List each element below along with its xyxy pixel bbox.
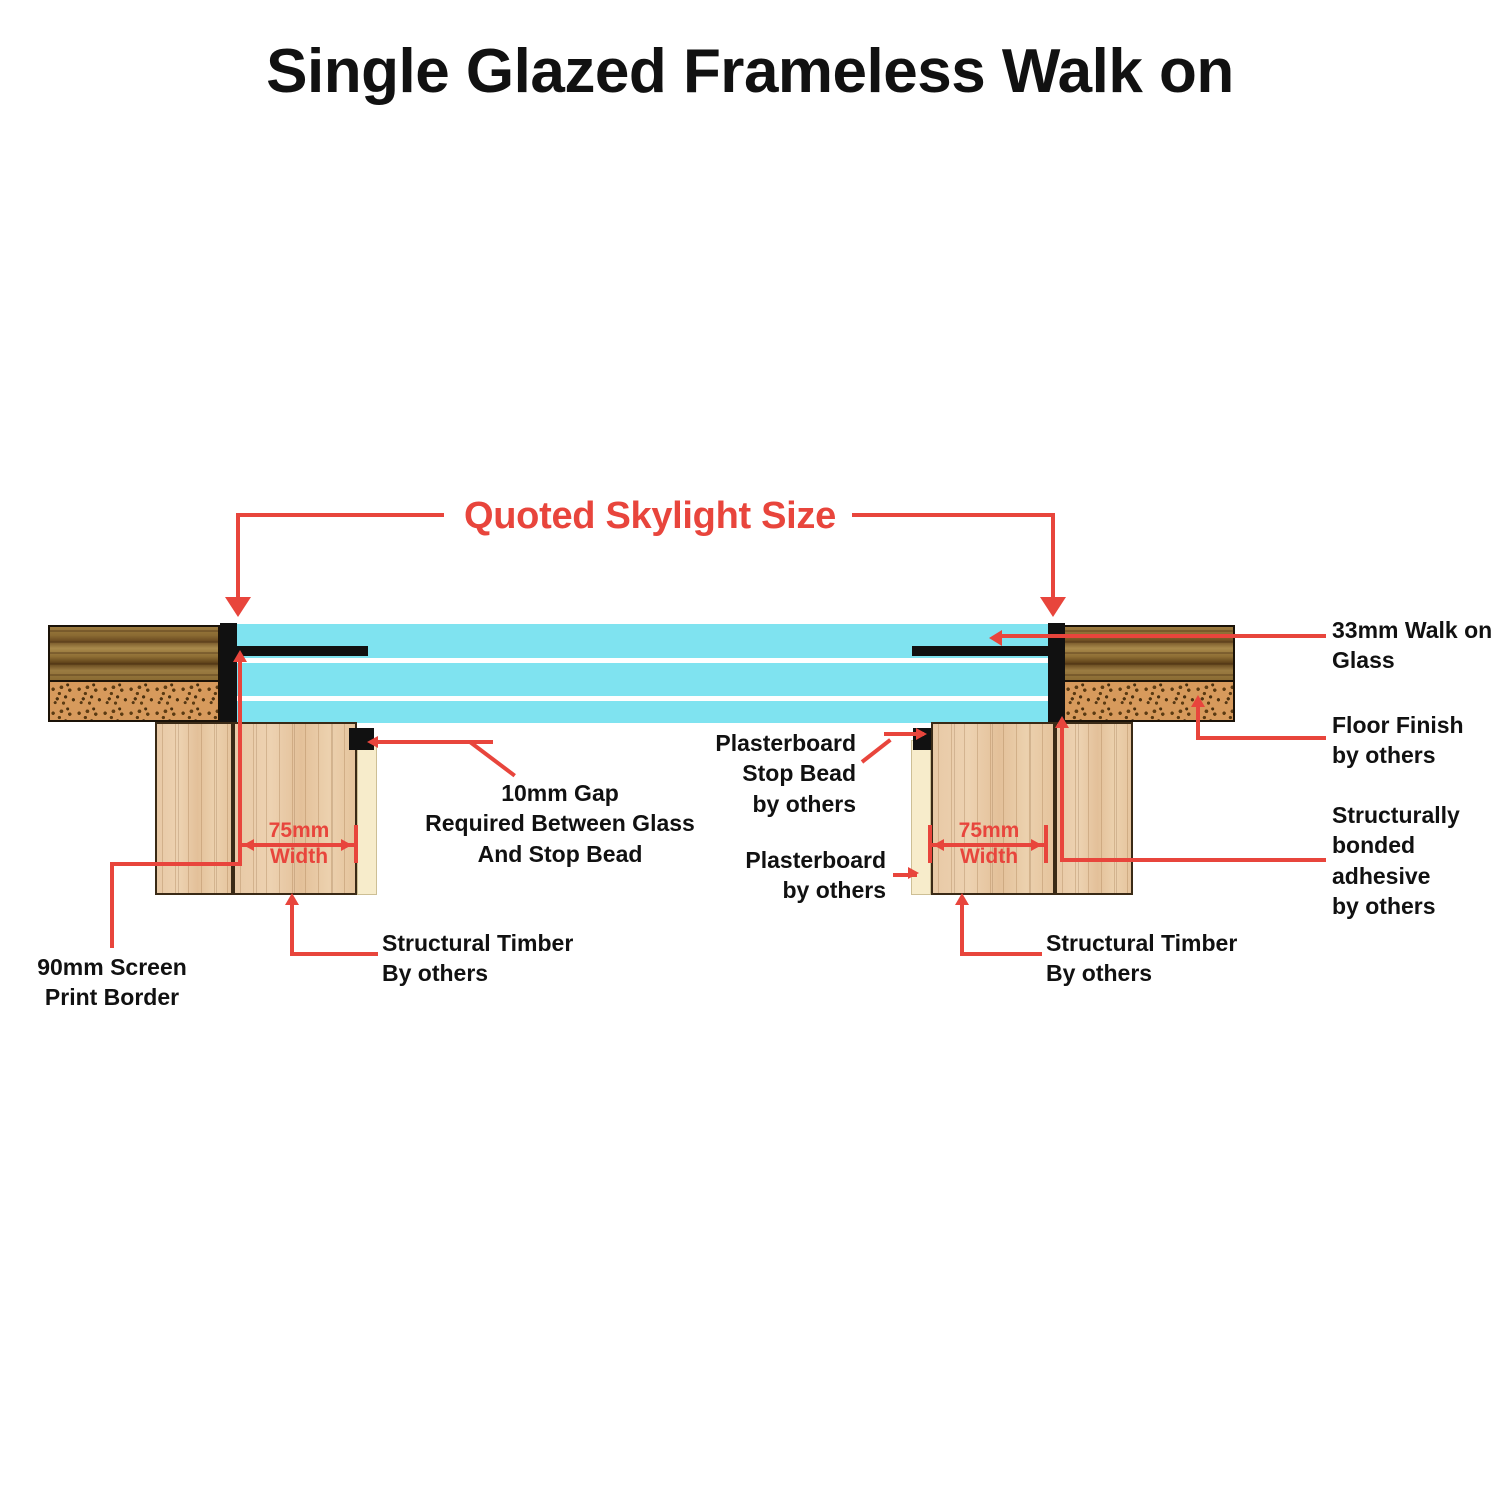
stop-bead-label: Plasterboard Stop Bead by others (670, 728, 856, 819)
width-right-tick-a (928, 825, 932, 863)
width-right-tick-b (1044, 825, 1048, 863)
adhesive-leader-h (1060, 858, 1326, 862)
floor-finish-right-screed (1063, 682, 1235, 722)
glass-pane-middle (232, 663, 1056, 696)
adhesive-arrow (1055, 716, 1069, 728)
screen-print-leader-h (110, 862, 242, 866)
floor-finish-leader-h (1196, 736, 1326, 740)
stop-bead-leader-diag (861, 738, 892, 763)
gap-leader-diag (469, 740, 516, 777)
gap-label: 10mm Gap Required Between Glass And Stop… (415, 778, 705, 869)
plasterboard-left (357, 740, 377, 895)
structural-timber-right-outer (1055, 722, 1133, 895)
diagram-canvas: Single Glazed Frameless Walk on Quoted S… (0, 0, 1500, 1500)
screen-print-border-right (912, 646, 1048, 656)
timber-right-leader-h (960, 952, 1042, 956)
quoted-size-leader-left-h (236, 513, 444, 517)
structural-timber-left-outer (155, 722, 233, 895)
floor-finish-leader-v (1196, 707, 1200, 738)
glass-spec-leader (1002, 634, 1326, 638)
screen-print-arrow (233, 650, 247, 662)
quoted-size-arrow-left (225, 597, 251, 617)
plasterboard-label: Plasterboard by others (700, 845, 886, 906)
quoted-skylight-size-label: Quoted Skylight Size (440, 493, 860, 541)
width-left-tick-a (238, 825, 242, 863)
timber-right-leader-v (960, 905, 964, 954)
glass-pane-bottom (232, 701, 1056, 723)
timber-left-label: Structural Timber By others (382, 928, 592, 989)
timber-left-arrow (285, 893, 299, 905)
plasterboard-arrow (908, 867, 919, 879)
quoted-size-arrow-right (1040, 597, 1066, 617)
bonded-adhesive-left (220, 623, 237, 723)
screen-print-leader-v1 (110, 862, 114, 948)
floor-finish-left-screed (48, 682, 220, 722)
adhesive-label: Structurally bonded adhesive by others (1332, 800, 1500, 921)
quoted-size-leader-left-v (236, 513, 240, 599)
width-right-arrow-a (933, 839, 944, 851)
gap-arrow (367, 736, 378, 748)
width-left-arrow-a (243, 839, 254, 851)
quoted-size-leader-right-h (852, 513, 1055, 517)
width-left-tick-b (354, 825, 358, 863)
timber-right-label: Structural Timber By others (1046, 928, 1256, 989)
bonded-adhesive-right (1048, 623, 1065, 723)
floor-finish-left-wood (48, 625, 220, 682)
glass-spec-arrow (989, 630, 1002, 646)
width-right-arrow-b (1031, 839, 1042, 851)
width-left-arrow-b (341, 839, 352, 851)
glass-spec-label: 33mm Walk on Glass (1332, 615, 1500, 676)
timber-left-leader-h (290, 952, 378, 956)
screen-print-label: 90mm Screen Print Border (22, 952, 202, 1013)
page-title: Single Glazed Frameless Walk on (0, 36, 1500, 107)
floor-finish-label: Floor Finish by others (1332, 710, 1500, 771)
timber-right-arrow (955, 893, 969, 905)
timber-left-leader-v (290, 905, 294, 954)
adhesive-leader-v (1060, 728, 1064, 860)
stop-bead-arrow (916, 728, 927, 740)
screen-print-border-left (232, 646, 368, 656)
floor-finish-arrow (1191, 695, 1205, 707)
quoted-size-leader-right-v (1051, 513, 1055, 599)
